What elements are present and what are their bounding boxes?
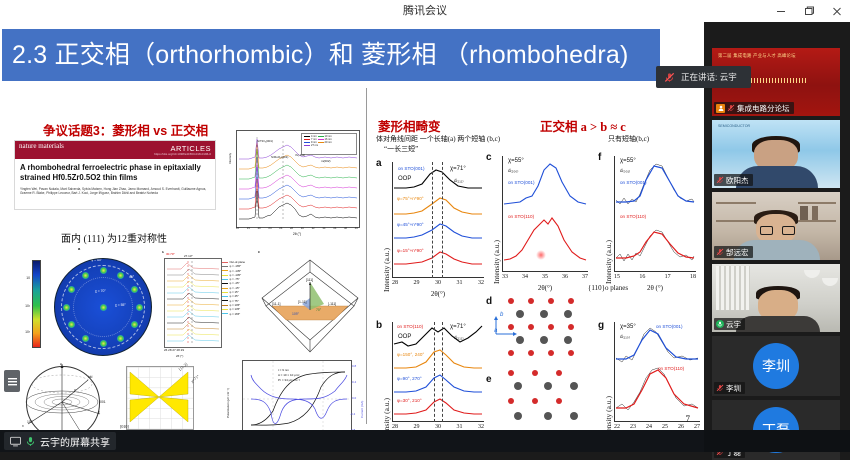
panel-b-ann-oop: OOP	[398, 334, 411, 340]
hamburger-icon	[8, 377, 17, 386]
tile-2-name: 郜远宏	[726, 247, 749, 258]
pole-panel-letter: a	[78, 246, 80, 251]
paper-authors: Yingfen Wei, Pavan Nukala, Mart Salverda…	[20, 187, 210, 196]
pole-disc: φ = 60° 45° χ = 70° χ = 55°	[54, 258, 152, 356]
panel-b-ann-phi30: φ=30°, 210°	[397, 398, 422, 403]
panel-a-xlabel: 2θ(°)	[392, 290, 484, 298]
tile-1-namebar: 欧阳杰	[714, 174, 753, 186]
xrd-plot-area: 4 nm 10 nm 7 nm 16 nm 9 nm 20 nm 27 nm S…	[236, 130, 360, 228]
figure-phi-stack: b	[148, 248, 254, 360]
panel-a-ann-d: d₍₁₁₁₎	[454, 178, 463, 184]
shared-slide[interactable]: 2.3 正交相（orthorhombic）和 菱形相 （rhombohedra)…	[0, 22, 704, 430]
panel-g-ann-chi: χ=35°	[620, 324, 636, 330]
panel-a-ann-phi75: φ=75°+n*90°	[397, 196, 424, 201]
mic-muted-icon	[664, 72, 675, 83]
tile-0-name: 集成电路分论坛	[737, 103, 790, 114]
tile-4-avatar: 李圳	[753, 343, 799, 389]
right-heading-rhombohedral: 菱形相畸变	[378, 116, 441, 135]
xrd-peak-sto: SrTiO₃(001)	[257, 139, 273, 143]
pole-colorbar	[32, 260, 41, 348]
mic-active-icon	[716, 320, 724, 328]
journal-header-figure: nature materials ARTICLES https://doi.or…	[14, 140, 216, 210]
journal-logo: nature materials	[19, 143, 64, 150]
title-bar: 腾讯会议	[0, 0, 850, 22]
slide-title: 2.3 正交相（orthorhombic）和 菱形相 （rhombohedra)	[2, 29, 660, 81]
sub-note-left: 体对角线间距 一个长轴(a) 两个短轴 (b,c)	[376, 134, 500, 144]
panel-c-ann-chi: χ=55°	[508, 158, 524, 164]
symmetry-caption: 面内 (111) 为12重对称性	[14, 230, 214, 245]
panel-letter-f: f	[598, 152, 601, 163]
panel-g-ann-sto001: on STO(001)	[656, 324, 682, 329]
lattice-label-a: a	[494, 328, 497, 334]
panel-a-ann-phi15: φ=15°+n*90°	[397, 248, 424, 253]
panel-a-dash-1	[432, 162, 433, 278]
panel-g-ylabel: Intensity (a.u.)	[604, 396, 613, 430]
window-title: 腾讯会议	[0, 0, 850, 22]
panel-letter-b: b	[376, 320, 382, 331]
panel-g-plot: χ=35° on STO(001) d₍₁₁₀₎ on STO(110) 222…	[614, 322, 700, 422]
figure-hysteresis: t = 9 nm A = 10 × 10 μm² Pr = 34 μC cm⁻²…	[218, 354, 366, 430]
panel-a-dash-2	[442, 162, 443, 278]
tile-3-name: 云宇	[726, 319, 741, 330]
video-rail: 第二届 集成电路 产业与人才 高峰论坛 集成电路分论坛	[704, 44, 850, 452]
hysteresis-area	[242, 360, 352, 430]
right-heading-orthorhombic: 正交相 a > b ≈ c	[540, 116, 626, 135]
lattice-e	[498, 368, 586, 430]
panel-a-ylabel: Intensity (a.u.)	[382, 248, 391, 292]
tile-3-namebar: 云宇	[714, 318, 745, 330]
tile-2-namebar: 郜远宏	[714, 246, 753, 258]
panel-b-ann-phi90: φ=90°, 270°	[397, 376, 422, 381]
tile-4-namebar: 李圳	[714, 382, 745, 394]
xrd-legend: 4 nm 10 nm 7 nm 16 nm 9 nm 20 nm 27 nm	[301, 133, 357, 155]
tile-0-decor-strip	[742, 78, 808, 83]
panel-letter-d: d	[486, 296, 492, 307]
speaking-tooltip-text: 正在讲话: 云宇	[681, 71, 737, 83]
panel-g-ann-sto110: on STO(110)	[658, 366, 684, 371]
panel-c-ann-d: d₍₂₀₀₎	[508, 168, 518, 174]
phi-curves	[165, 259, 221, 347]
slide-page-number: 7	[686, 414, 691, 424]
phi-legend: Out-of-plane φ = -165° φ = -135° φ = -10…	[222, 260, 245, 316]
panel-c-ann-sto110: on STO(110)	[508, 214, 534, 219]
slide-menu-button[interactable]	[4, 370, 20, 392]
panel-letter-a: a	[376, 158, 382, 169]
video-tile-4[interactable]: 李圳 李圳	[712, 336, 840, 396]
axis-arrows-ab	[492, 314, 518, 340]
video-tile-3[interactable]: 云宇	[712, 264, 840, 332]
panel-letter-g: g	[598, 320, 604, 331]
speaking-tooltip: 正在讲话: 云宇	[656, 66, 751, 88]
yellow-lobes	[112, 362, 204, 430]
tile-3-window-blind	[716, 266, 750, 310]
share-status-text: 云宇的屏幕共享	[40, 434, 110, 449]
mic-muted-icon	[727, 104, 735, 112]
panel-a-ann-chi: χ=71°	[450, 166, 466, 172]
panel-c-ylabel: Intensity (a.u.)	[492, 240, 501, 284]
panel-letter-c: c	[486, 152, 492, 163]
panel-f-ann-d: d₍₀₀₁₎	[620, 168, 630, 174]
panel-b-ann-chi: χ=71°	[450, 324, 466, 330]
journal-doi: https://doi.org/10.1038/s41563-018-0196-…	[154, 152, 211, 156]
xrd-xlabel: 2θ (°)	[236, 232, 358, 236]
panel-b-dash-2	[442, 322, 443, 422]
panel-g-ann-d: d₍₁₁₀₎	[620, 334, 630, 340]
video-tile-1[interactable]: SEMICONDUCTOR 欧阳杰	[712, 120, 840, 188]
minimize-icon[interactable]	[774, 4, 788, 18]
panel-f-ylabel: Intensity (a.u.)	[604, 240, 613, 284]
tile-4-name: 李圳	[726, 383, 741, 394]
sub-note-right: 只有短轴(b,c)	[608, 134, 649, 144]
tile-0-namebar: 集成电路分论坛	[714, 102, 794, 114]
sub-note-left2: “一长三短”	[384, 144, 418, 154]
host-icon	[716, 104, 725, 113]
meeting-stage: 2.3 正交相（orthorhombic）和 菱形相 （rhombohedra)…	[0, 22, 850, 430]
panel-b-ann-phi150: φ=150°, 240°	[397, 352, 424, 357]
figure-pole: a 1010²10³	[14, 246, 154, 362]
slide-divider	[366, 88, 367, 424]
hysteresis-curves	[243, 361, 351, 430]
tile-1-name: 欧阳杰	[726, 175, 749, 186]
panel-c-plot: χ=55° d₍₂₀₀₎ on STO(001) on STO(110) 333…	[502, 156, 588, 272]
panel-c-xlabel: 2θ(°)	[502, 284, 588, 292]
mic-muted-icon	[716, 248, 724, 256]
panel-a-ann-oop: OOP	[398, 176, 411, 182]
panel-b-dash-1	[434, 322, 435, 422]
panel-a-xticks: 2829303132	[392, 280, 484, 286]
xrd-ylabel: Intensity	[228, 153, 232, 164]
panel-b-ylabel: Intensity (a.u.)	[382, 398, 391, 430]
tencent-meeting-window: 腾讯会议 2.3 正交相（orthorhombic）和 菱形相	[0, 0, 850, 452]
figure-stereographic: z hkl y 001 x 100 φ ρ	[12, 362, 112, 430]
phi-stack-area	[164, 258, 222, 348]
bottom-bar-rail-section	[704, 430, 850, 452]
lattice-label-b: b	[500, 312, 503, 318]
panel-b-ann-sto110: on STO(110)	[397, 324, 423, 329]
xrd-peak-sro: SrRuO₃(001)	[271, 155, 288, 159]
xrd-peak-rh: rh(-111)	[295, 153, 305, 157]
tile-1-backdrop-text: SEMICONDUCTOR	[718, 124, 750, 128]
paper-title: A rhombohedral ferroelectric phase in ep…	[20, 163, 210, 183]
panel-f-plot: χ=55° d₍₀₀₁₎ on STO(001) on STO(110) 151…	[614, 156, 696, 272]
tile-2-glasses-right	[782, 226, 795, 235]
panel-letter-e: e	[486, 374, 492, 385]
figure-xrd-thickness: 4 nm 10 nm 7 nm 16 nm 9 nm 20 nm 27 nm S…	[226, 124, 364, 244]
tile-2-glasses-left	[760, 226, 773, 235]
panel-a-ann-phi45: φ=45°+n*90°	[397, 222, 424, 227]
screen-share-icon	[10, 436, 21, 447]
octahedron-drawing	[254, 254, 366, 358]
mic-icon	[25, 436, 36, 447]
panel-c-xticks: 3334353637	[502, 274, 588, 280]
panel-f-ann-sto001: on STO(001)	[620, 180, 646, 185]
panel-c-highlight	[536, 250, 546, 260]
panel-c-ann-sto001: on STO(001)	[508, 180, 534, 185]
figure-octahedron: c [111] [11-1] [1-11] [-111]	[254, 248, 366, 360]
panel-f-xticks: 15161718	[614, 274, 696, 280]
maximize-icon[interactable]	[802, 4, 816, 18]
panel-f-xlabel: 2θ (°)	[614, 284, 696, 292]
tile-3-body	[736, 316, 820, 332]
panel-b-plot: on STO(110) χ=71° OOP d₍₁₁₁₎ φ=150°, 240…	[392, 322, 484, 422]
screen-share-indicator[interactable]: 云宇的屏幕共享	[4, 432, 116, 450]
panel-f-ann-chi: χ=55°	[620, 158, 636, 164]
panel-a-ann-sto: on STO(001)	[398, 166, 424, 171]
tile-0-banner-text: 第二届 集成电路 产业与人才 高峰论坛	[718, 53, 834, 59]
video-tile-2[interactable]: 郜远宏	[712, 192, 840, 260]
pole-colorbar-ticks: 1010²10³	[18, 260, 30, 346]
panel-f-ann-sto110: on STO(110)	[620, 214, 646, 219]
left-heading: 争议话题3：菱形相 vs 正交相	[18, 120, 233, 139]
panel-b-ann-d: d₍₁₁₁₎	[454, 335, 463, 341]
figure-yellow-lobes: [010] [100] [11-2] χ=71°	[112, 362, 204, 430]
xrd-xticks: 101520242628303234363840	[236, 226, 358, 230]
panel-a-plot: on STO(001) OOP χ=71° d₍₁₁₁₎ φ=75°+n*90°…	[392, 162, 484, 278]
mic-muted-icon	[716, 176, 724, 184]
window-controls	[774, 0, 844, 22]
xrd-peak-m: m(002)	[321, 159, 331, 163]
mic-muted-icon	[716, 384, 724, 392]
close-icon[interactable]	[830, 4, 844, 18]
